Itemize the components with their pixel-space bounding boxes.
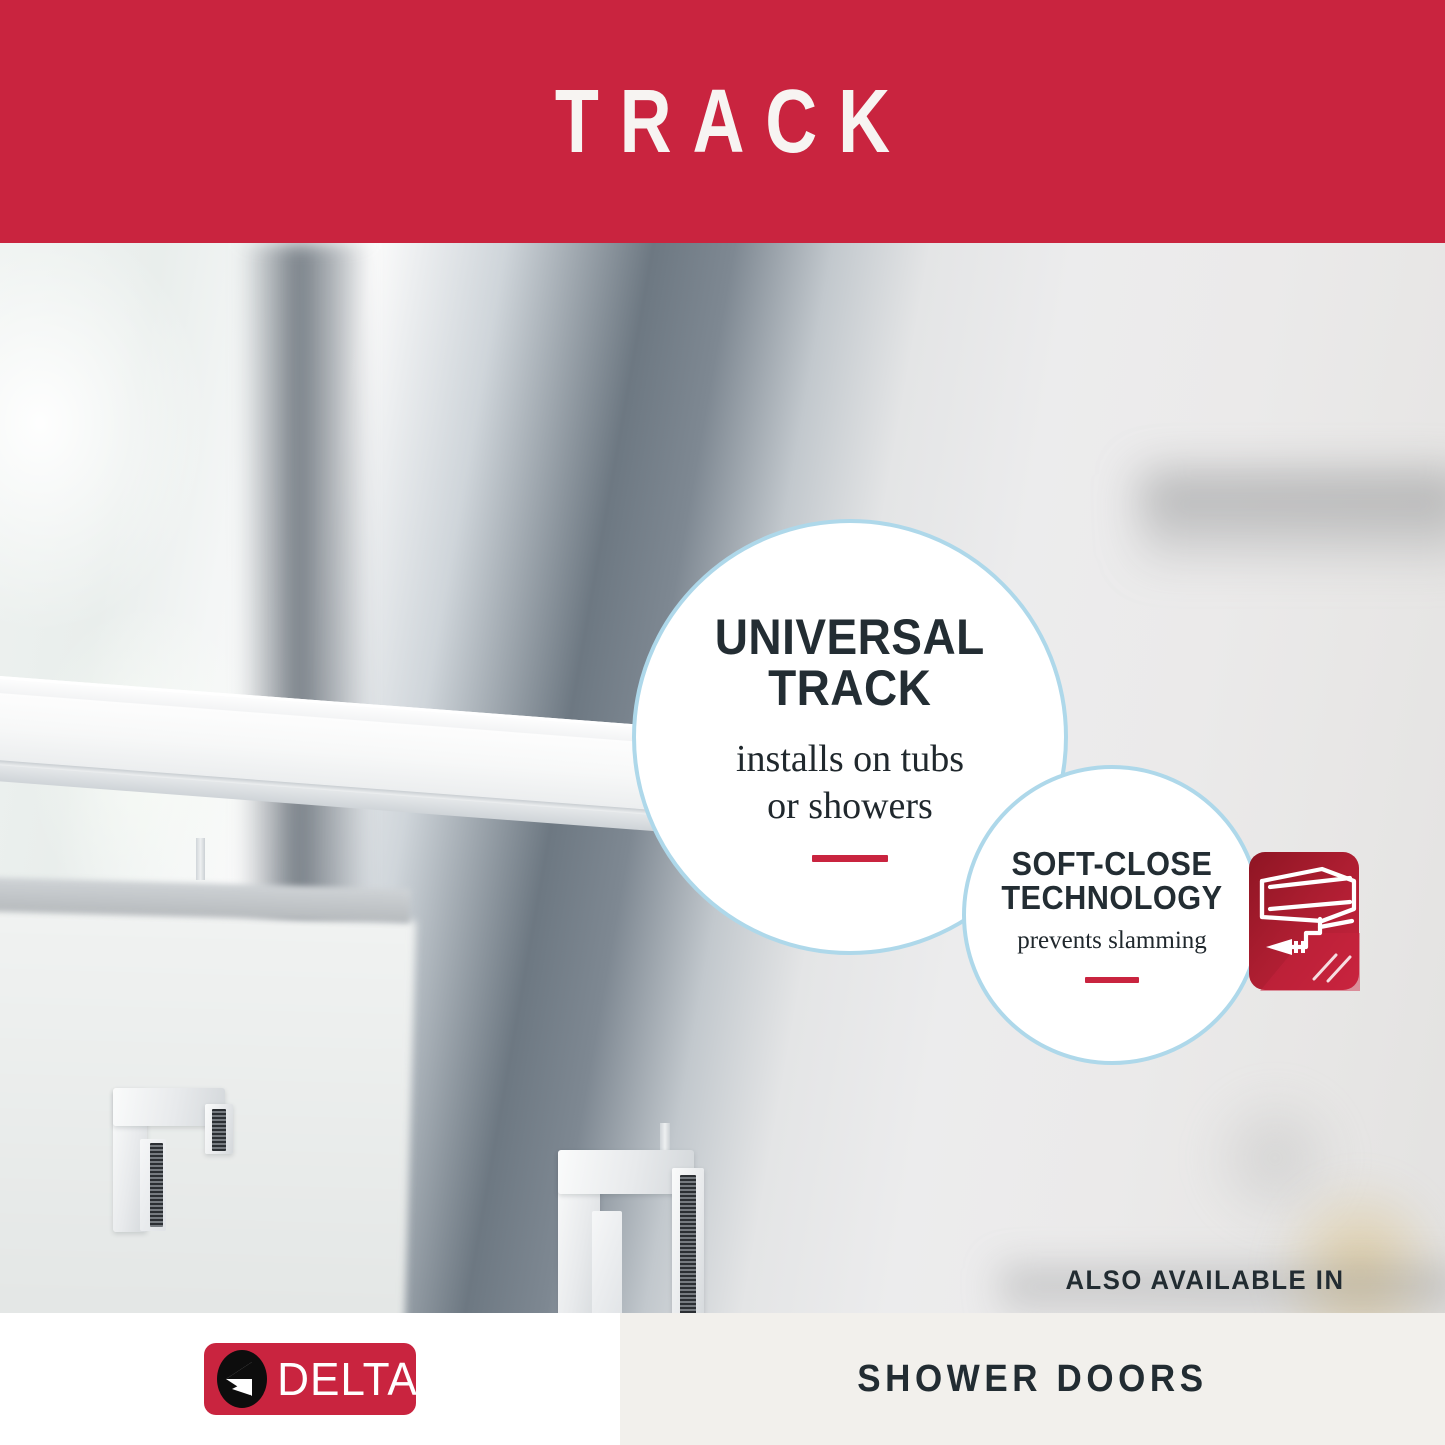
footer-tagline: SHOWER DOORS xyxy=(857,1358,1207,1401)
callout-subtext: installs on tubs or showers xyxy=(736,736,964,829)
delta-logo[interactable]: DELTA® xyxy=(204,1343,416,1415)
soft-close-glide-icon xyxy=(1248,851,1360,991)
footer-bar: DELTA® SHOWER DOORS xyxy=(0,1313,1445,1445)
page-title: TRACK xyxy=(534,77,911,167)
delta-wordmark: DELTA® xyxy=(277,1352,429,1406)
registered-mark: ® xyxy=(419,1391,429,1406)
callout-subtext: prevents slamming xyxy=(1017,926,1207,957)
callout-soft-close-technology: SOFT-CLOSE TECHNOLOGY prevents slamming xyxy=(962,765,1262,1065)
product-photo-stage: UNIVERSAL TRACK installs on tubs or show… xyxy=(0,243,1445,1313)
callout-headline: UNIVERSAL TRACK xyxy=(715,612,985,714)
callout-headline: SOFT-CLOSE TECHNOLOGY xyxy=(1001,847,1222,914)
header-banner: TRACK xyxy=(0,0,1445,243)
infographic-page: TRACK xyxy=(0,0,1445,1445)
delta-wordmark-text: DELTA xyxy=(277,1353,418,1405)
also-available-section: ALSO AVAILABLE IN BRUSHED NICKEL MATTE B… xyxy=(1055,1265,1355,1313)
delta-triangle-mark xyxy=(214,1349,270,1409)
also-available-title: ALSO AVAILABLE IN xyxy=(1063,1265,1348,1296)
callout-divider-dash xyxy=(1085,977,1139,983)
footer-tagline-panel: SHOWER DOORS xyxy=(620,1313,1445,1445)
footer-brand-panel: DELTA® xyxy=(0,1313,620,1445)
callout-divider-dash xyxy=(812,855,888,862)
